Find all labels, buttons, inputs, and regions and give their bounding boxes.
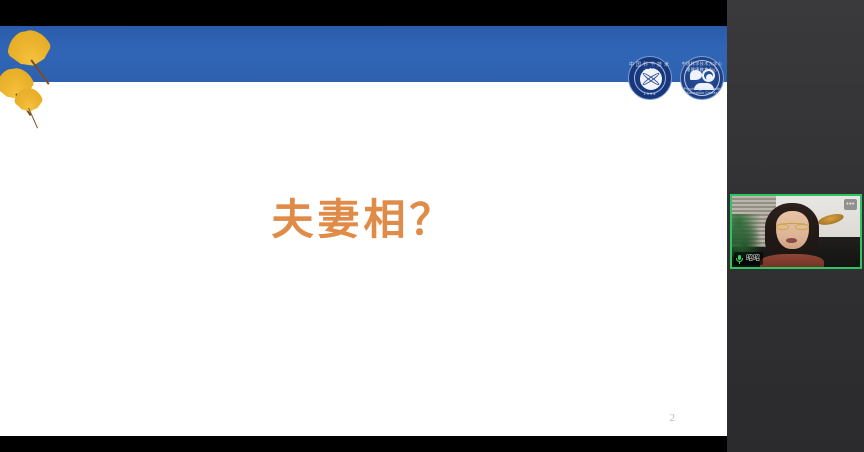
psychological-center-logo: 中国科学技术大学心理健康教育中心 Psychological Health Ed… [680, 56, 724, 100]
ustc-logo-acronym: USTC [629, 64, 671, 72]
ginkgo-leaf-icon [12, 87, 46, 128]
slide-header-banner [0, 26, 727, 82]
person-mouth [786, 238, 797, 243]
participant-name-label: 昭昭 [746, 254, 760, 263]
video-tile-more-button[interactable]: ••• [844, 199, 857, 210]
ginkgo-leaf-blade [2, 26, 54, 71]
person-head-icon [702, 69, 715, 82]
speech-bubble-icon [690, 70, 702, 80]
meeting-stage: 中国科学技术大学 USTC 1958 中国科学技术大学心理健康教育中心 Psyc… [0, 0, 864, 452]
person-glasses [776, 223, 809, 230]
more-dots-icon: ••• [846, 201, 855, 208]
microphone-icon-stand [739, 262, 740, 264]
slide-title: 夫妻相？ [0, 194, 727, 246]
slide-page-number: 2 [670, 412, 676, 424]
ginkgo-leaf-stem [28, 108, 38, 129]
presentation-slide: 中国科学技术大学 USTC 1958 中国科学技术大学心理健康教育中心 Psyc… [0, 26, 727, 436]
ustc-logo: 中国科学技术大学 USTC 1958 [628, 56, 672, 100]
participant-person [760, 202, 824, 267]
ustc-logo-year: 1958 [629, 91, 671, 96]
psy-logo-arc-bottom: Psychological Health Education Center [681, 87, 723, 95]
participant-name-badge: 昭昭 [734, 252, 763, 265]
participant-video-tile[interactable]: 昭昭 ••• [730, 194, 862, 269]
participant-thumbnail-strip[interactable]: 昭昭 ••• [727, 0, 864, 452]
shared-screen-region[interactable]: 中国科学技术大学 USTC 1958 中国科学技术大学心理健康教育中心 Psyc… [0, 0, 727, 452]
microphone-icon[interactable] [735, 254, 744, 264]
person-shirt [760, 254, 824, 267]
